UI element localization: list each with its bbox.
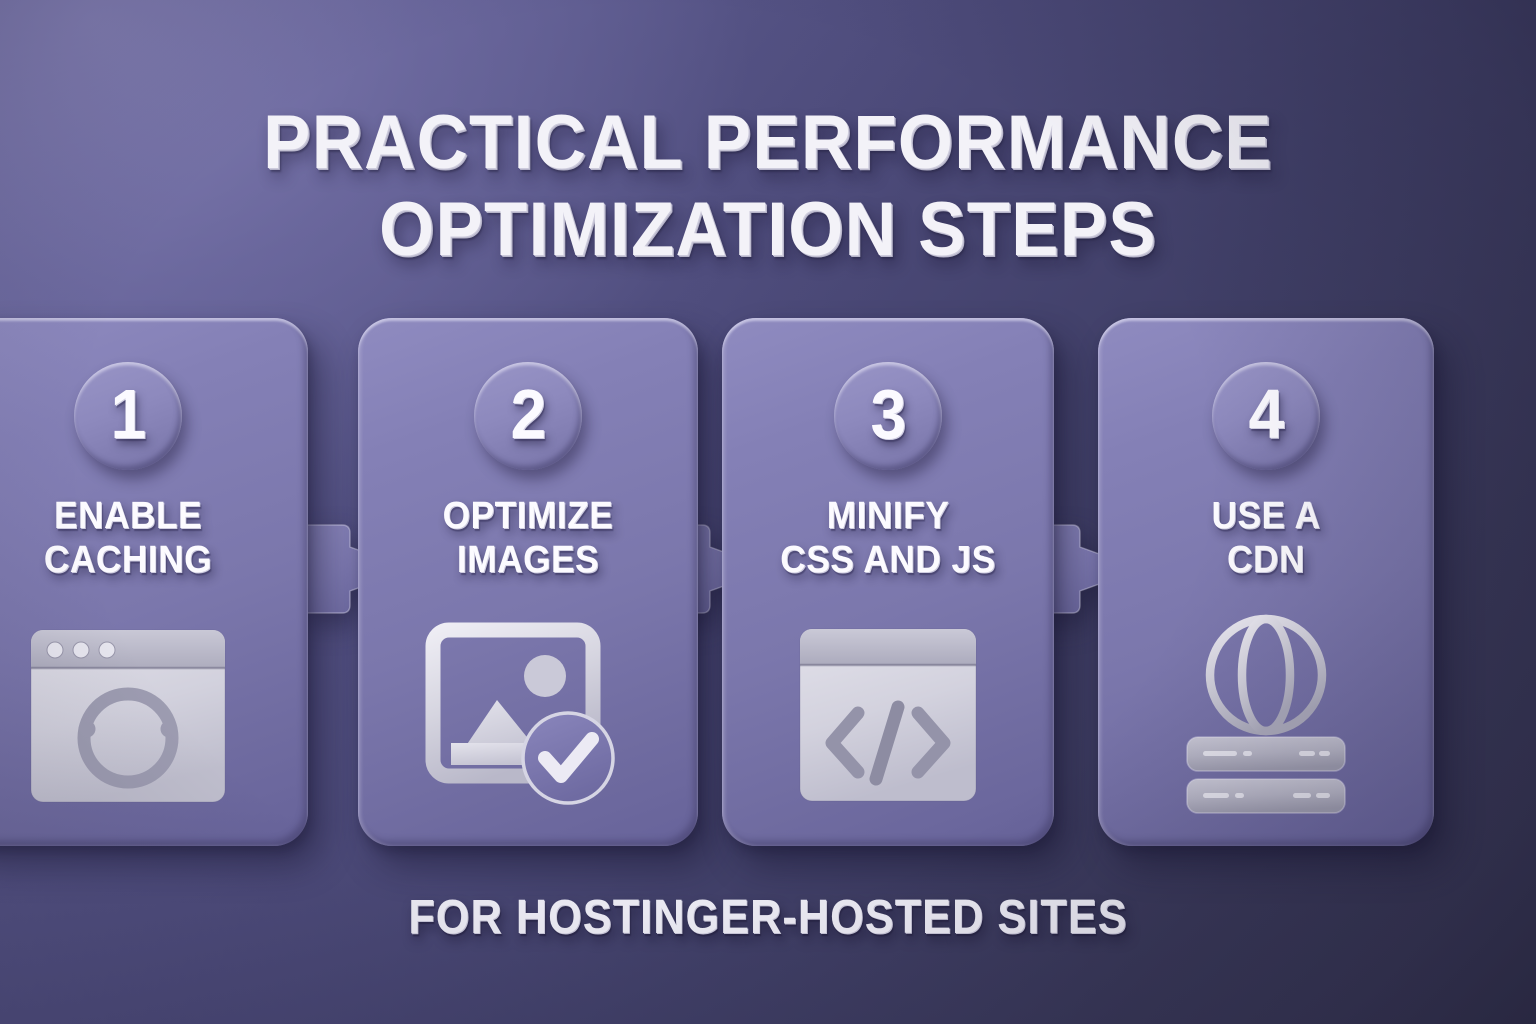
step-number-badge-4: 4 — [1212, 362, 1320, 470]
step-label-3-line-1: MINIFY — [734, 494, 1043, 538]
browser-cache-refresh-icon — [23, 620, 233, 810]
step-label-1: ENABLE CACHING — [0, 494, 295, 582]
step-number-badge-1: 1 — [74, 362, 182, 470]
step-label-2-line-1: OPTIMIZE — [370, 494, 686, 538]
step-icon-slot-4 — [1098, 610, 1434, 820]
step-label-2-line-2: IMAGES — [370, 538, 686, 582]
page-title-line-1: PRACTICAL PERFORMANCE — [54, 105, 1482, 181]
step-label-2: OPTIMIZE IMAGES — [370, 494, 686, 582]
step-label-1-line-1: ENABLE — [0, 494, 295, 538]
code-window-icon — [788, 619, 988, 811]
step-label-4-line-1: USE A — [1110, 494, 1422, 538]
step-card-1[interactable]: 1 ENABLE CACHING — [0, 318, 308, 846]
infographic-canvas: PRACTICAL PERFORMANCE OPTIMIZATION STEPS… — [0, 0, 1536, 1024]
footer-caption: FOR HOSTINGER-HOSTED SITES — [77, 890, 1459, 945]
step-label-4: USE A CDN — [1110, 494, 1422, 582]
page-title-line-2: OPTIMIZATION STEPS — [54, 192, 1482, 268]
step-label-3: MINIFY CSS AND JS — [734, 494, 1043, 582]
step-card-3[interactable]: 3 MINIFY CSS AND JS — [722, 318, 1054, 846]
step-number-2: 2 — [510, 379, 546, 449]
step-number-badge-3: 3 — [834, 362, 942, 470]
step-label-4-line-2: CDN — [1110, 538, 1422, 582]
image-check-icon — [421, 618, 636, 813]
step-card-4[interactable]: 4 USE A CDN — [1098, 318, 1434, 846]
step-number-1: 1 — [110, 379, 146, 449]
step-card-2[interactable]: 2 OPTIMIZE IMAGES — [358, 318, 698, 846]
step-number-badge-2: 2 — [474, 362, 582, 470]
step-icon-slot-3 — [722, 610, 1054, 820]
step-icon-slot-2 — [358, 610, 698, 820]
step-icon-slot-1 — [0, 610, 308, 820]
step-label-1-line-2: CACHING — [0, 538, 295, 582]
step-label-3-line-2: CSS AND JS — [734, 538, 1043, 582]
step-number-3: 3 — [870, 379, 906, 449]
globe-server-icon — [1161, 613, 1371, 818]
step-number-4: 4 — [1248, 379, 1284, 449]
